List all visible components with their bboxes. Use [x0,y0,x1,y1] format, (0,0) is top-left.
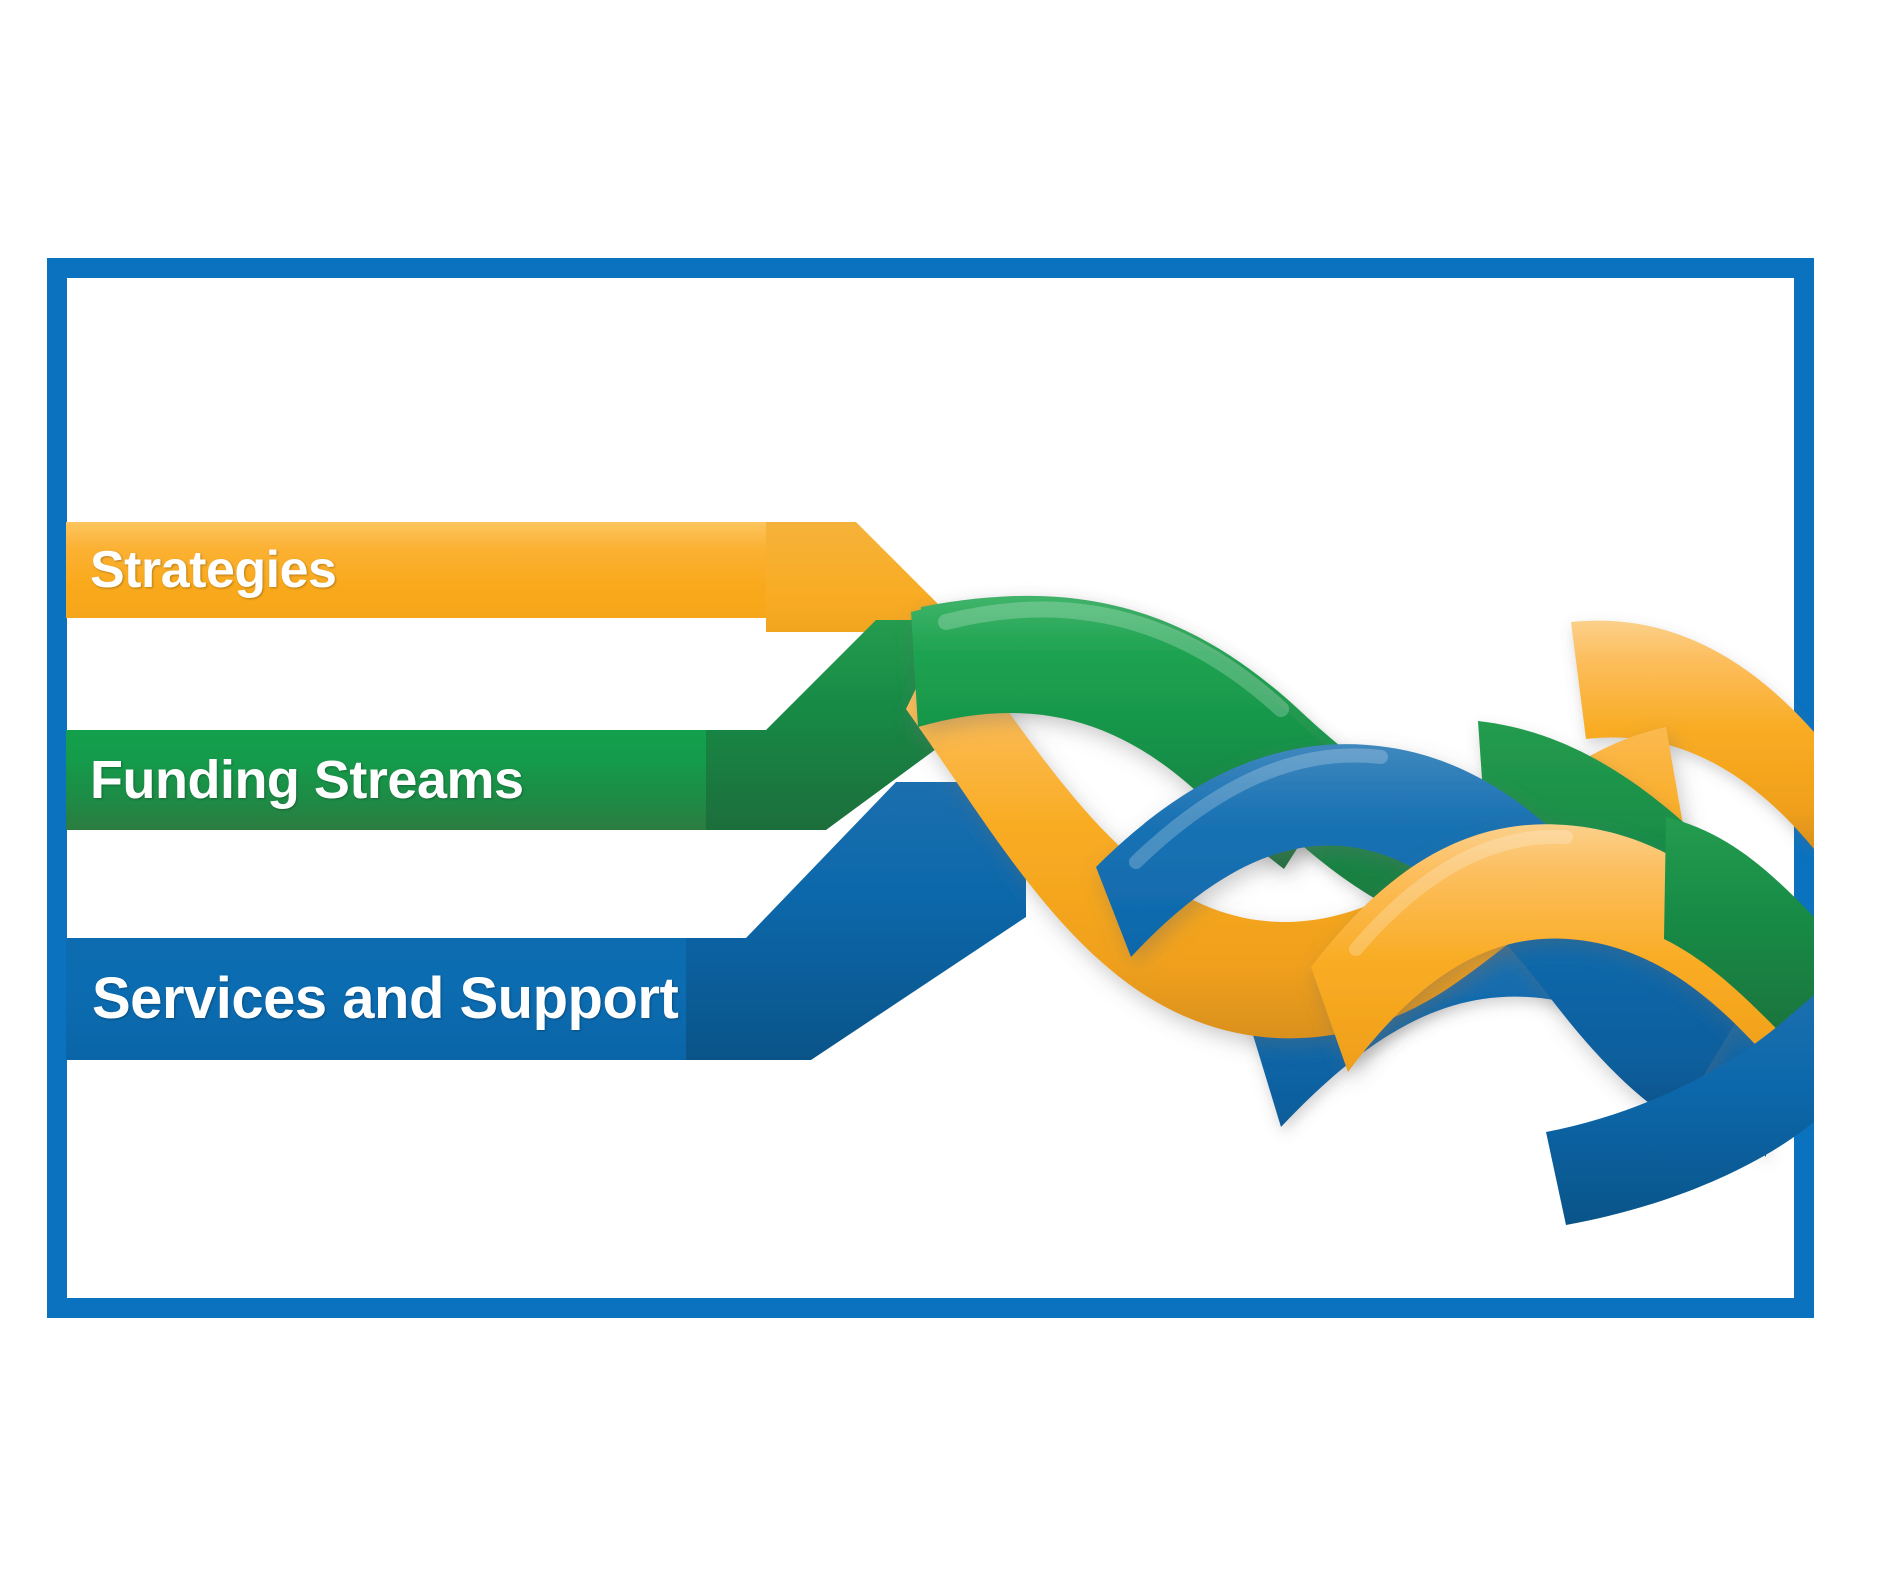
ribbon-strategies: Strategies [66,522,856,618]
braid-blue-under-1 [1246,882,1766,1157]
braid-orange-under-1 [1571,621,1814,849]
braid-highlights [946,609,1566,949]
diagram-canvas: Strategies Funding Streams Services and … [0,0,1880,1576]
ribbon-label-services-and-support: Services and Support [66,970,678,1028]
ribbon-label-funding-streams: Funding Streams [66,753,524,807]
braid-green-mid-1 [1478,721,1814,1057]
braid-green-under-1 [921,596,1556,941]
braid-green-over-2 [1664,817,1814,1067]
braid-blue-over-1 [1096,744,1736,1122]
braid-orange-over-1 [1311,824,1814,1112]
ribbon-label-strategies: Strategies [66,544,336,596]
braid-orange-mid-1 [906,627,1686,1038]
ribbon-funding-streams: Funding Streams [66,730,766,830]
diagram-inner-area: Strategies Funding Streams Services and … [66,277,1814,1299]
ribbon-services-and-support: Services and Support [66,938,746,1060]
braid-blue-over-2 [1546,995,1814,1225]
braid-green-over-1 [911,597,1350,869]
